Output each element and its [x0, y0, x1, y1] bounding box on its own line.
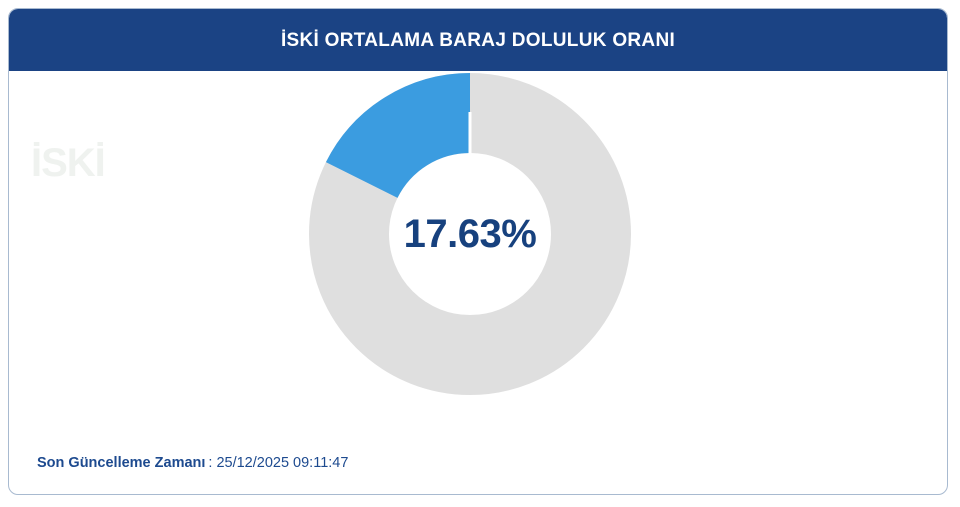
- chart-body: İSKİ 17.63%: [9, 71, 947, 434]
- card-header: İSKİ ORTALAMA BARAJ DOLULUK ORANI: [9, 9, 947, 71]
- page-title: İSKİ ORTALAMA BARAJ DOLULUK ORANI: [281, 31, 675, 50]
- page-root: İSKİ ORTALAMA BARAJ DOLULUK ORANI İSKİ 1…: [0, 0, 960, 507]
- card-footer: Son Güncelleme Zamanı : 25/12/2025 09:11…: [9, 432, 947, 494]
- donut-chart: 17.63%: [307, 71, 633, 397]
- last-update-value: 25/12/2025 09:11:47: [216, 455, 348, 471]
- dam-occupancy-card: İSKİ ORTALAMA BARAJ DOLULUK ORANI İSKİ 1…: [8, 8, 948, 495]
- donut-chart-svg: [307, 71, 633, 397]
- last-update-label: Son Güncelleme Zamanı: [37, 455, 205, 471]
- watermark-text: İSKİ: [31, 143, 105, 183]
- last-update-separator: :: [208, 455, 212, 471]
